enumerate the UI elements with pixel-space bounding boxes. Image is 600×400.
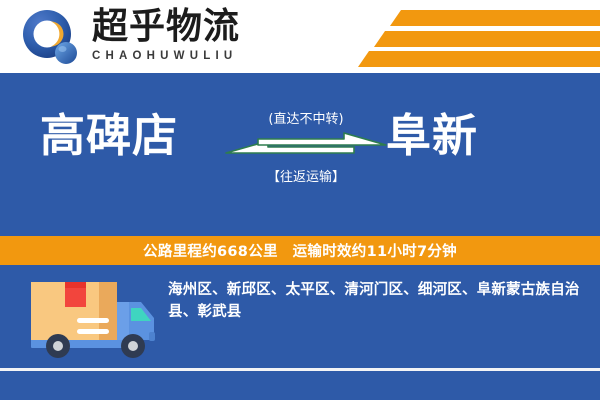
route-info-text: 公路里程约668公里 运输时效约11小时7分钟 [143, 240, 457, 261]
brand-block: 超乎物流 CHAOHUWULIU [92, 7, 282, 63]
brand-name-cn: 超乎物流 [92, 7, 282, 47]
decorative-stripe-1 [390, 10, 600, 26]
coverage-district-list: 海州区、新邱区、太平区、清河门区、细河区、阜新蒙古族自治县、彰武县 [168, 279, 588, 323]
route-panel: 高碑店 (直达不中转) 【往返运输】 阜新 [0, 73, 600, 236]
route-note-roundtrip: 【往返运输】 [222, 169, 390, 187]
decorative-stripe-3 [358, 51, 600, 67]
circular-q-logo-icon [22, 9, 80, 67]
destination-city-label: 阜新 [386, 107, 478, 165]
delivery-truck-icon [25, 276, 165, 368]
route-middle-block: (直达不中转) 【往返运输】 [222, 111, 390, 187]
origin-city-label: 高碑店 [40, 107, 178, 165]
logistics-route-banner: 超乎物流 CHAOHUWULIU 高碑店 (直达不中转) 【往返运输】 阜新 [0, 0, 600, 400]
route-info-bar: 公路里程约668公里 运输时效约11小时7分钟 [0, 236, 600, 265]
brand-name-en: CHAOHUWULIU [92, 49, 282, 63]
double-headed-arrow-icon [222, 132, 390, 166]
route-note-direct: (直达不中转) [222, 111, 390, 129]
decorative-stripe-2 [374, 31, 600, 47]
road-divider-line [0, 368, 600, 371]
banner-header: 超乎物流 CHAOHUWULIU [0, 0, 600, 73]
coverage-panel: 海州区、新邱区、太平区、清河门区、细河区、阜新蒙古族自治县、彰武县 [0, 265, 600, 400]
